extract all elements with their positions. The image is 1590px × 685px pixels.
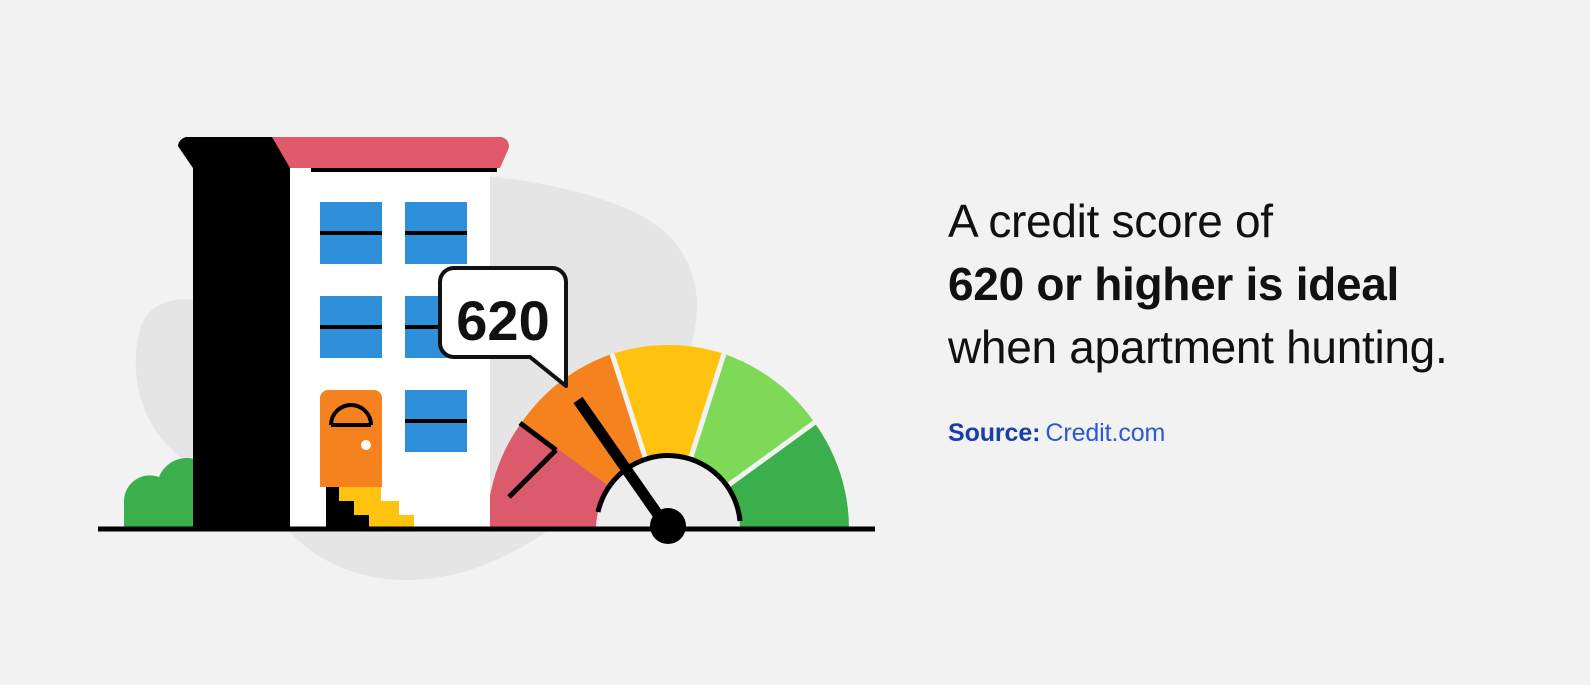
background-blob-small [136,299,196,470]
building-window [320,202,382,264]
building-roof [272,137,509,168]
bush [124,458,205,529]
illustration-svg: 620 [0,0,920,680]
building-window [320,296,382,358]
building-door [320,390,382,487]
building-window [405,202,467,264]
bush-shape [124,458,205,529]
stair-tread-1 [339,487,381,501]
source-line: Source:Credit.com [948,379,1548,448]
source-value[interactable]: Credit.com [1040,419,1165,447]
headline-line-1: A credit score of [948,190,1548,253]
building-tower [178,137,290,529]
headline-line-3: when apartment hunting. [948,316,1548,379]
infographic-canvas: 620 A credit score of 620 or higher is i… [0,0,1590,680]
headline: A credit score of 620 or higher is ideal… [948,190,1548,379]
door-knob [361,440,371,450]
source-label: Source: [948,419,1040,447]
copy-block: A credit score of 620 or higher is ideal… [948,190,1548,448]
stair-tread-2 [354,501,399,515]
illustration: 620 [0,0,920,680]
gauge-needle-hub [650,508,686,544]
headline-line-2-bold: 620 or higher is ideal [948,253,1548,316]
callout-score-text: 620 [456,289,549,352]
building-window [405,390,467,452]
